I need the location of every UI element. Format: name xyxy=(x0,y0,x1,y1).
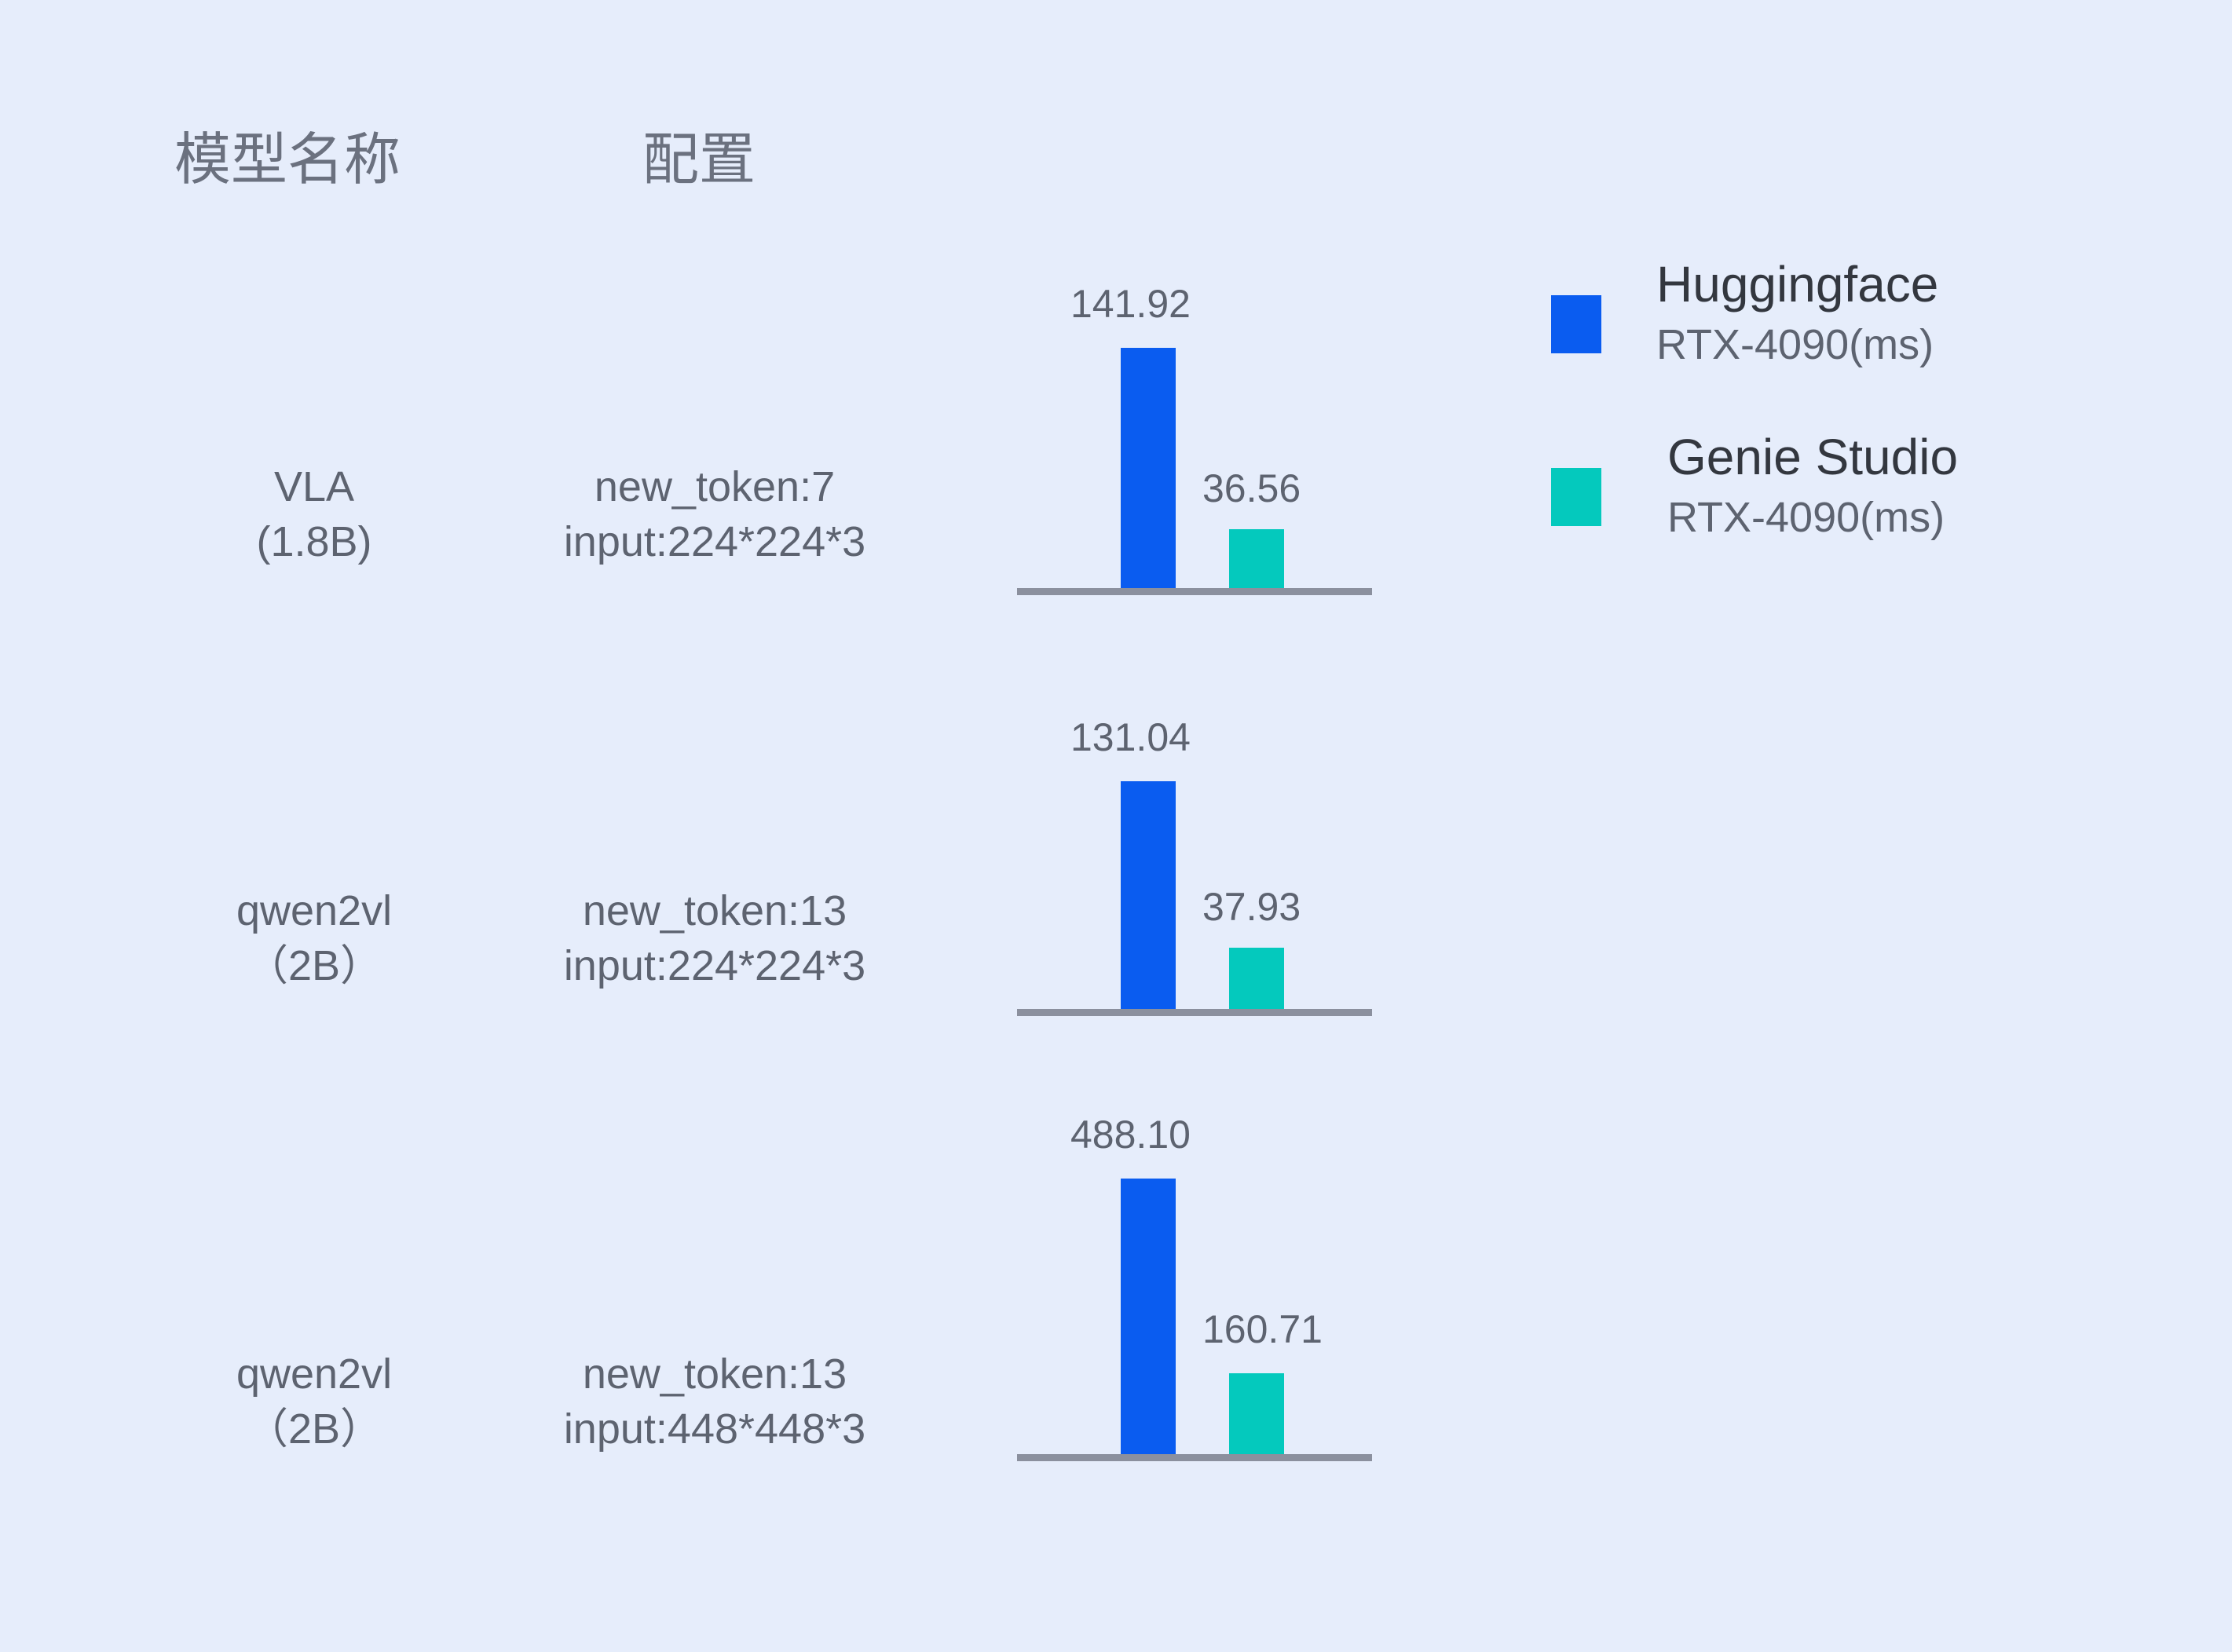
column-header-config: 配置 xyxy=(642,132,756,188)
bar-genie-studio[interactable] xyxy=(1229,529,1284,588)
chart-row: qwen2vl （2B） new_token:13 input:448*448*… xyxy=(0,1178,2232,1617)
legend-item-subtitle: RTX-4090(ms) xyxy=(1667,496,1945,539)
row-config-input: input:224*224*3 xyxy=(424,938,1005,993)
bar-value-huggingface: 488.10 xyxy=(1070,1115,1191,1154)
column-header-model-name: 模型名称 xyxy=(174,132,401,188)
legend-item-huggingface[interactable]: Huggingface RTX-4090(ms) xyxy=(1551,259,2101,432)
legend-item-genie-studio[interactable]: Genie Studio RTX-4090(ms) xyxy=(1551,432,2101,605)
bar-huggingface[interactable] xyxy=(1121,1179,1176,1460)
bar-huggingface[interactable] xyxy=(1121,348,1176,588)
bar-value-genie: 36.56 xyxy=(1202,469,1301,508)
chart-legend: Huggingface RTX-4090(ms) Genie Studio RT… xyxy=(1551,259,2101,605)
plot-baseline xyxy=(1017,588,1372,595)
row-bar-plot: 131.04 37.93 xyxy=(1017,762,1372,1029)
row-config-input: input:224*224*3 xyxy=(424,514,1005,569)
plot-baseline xyxy=(1017,1009,1372,1016)
bar-value-genie: 160.71 xyxy=(1202,1310,1323,1349)
row-bar-plot: 488.10 160.71 xyxy=(1017,1178,1372,1492)
bar-value-huggingface: 141.92 xyxy=(1070,284,1191,323)
legend-square-icon xyxy=(1551,468,1601,526)
bar-value-genie: 37.93 xyxy=(1202,887,1301,927)
infographic-root: 模型名称 配置 VLA (1.8B) new_token:7 input:224… xyxy=(0,0,2232,1652)
legend-square-icon xyxy=(1551,295,1601,353)
row-config-cell: new_token:13 input:448*448*3 xyxy=(424,1347,1005,1456)
bar-genie-studio[interactable] xyxy=(1229,1373,1284,1454)
legend-item-subtitle: RTX-4090(ms) xyxy=(1656,323,1934,366)
row-config-tokens: new_token:13 xyxy=(424,883,1005,938)
row-config-cell: new_token:7 input:224*224*3 xyxy=(424,459,1005,569)
legend-item-title: Genie Studio xyxy=(1667,432,1958,482)
legend-item-title: Huggingface xyxy=(1656,259,1938,309)
plot-baseline xyxy=(1017,1454,1372,1461)
bar-genie-studio[interactable] xyxy=(1229,948,1284,1009)
row-config-input: input:448*448*3 xyxy=(424,1402,1005,1456)
bar-value-huggingface: 131.04 xyxy=(1070,718,1191,757)
chart-row: qwen2vl （2B） new_token:13 input:224*224*… xyxy=(0,762,2232,1154)
row-config-tokens: new_token:13 xyxy=(424,1347,1005,1402)
bar-huggingface[interactable] xyxy=(1121,781,1176,1009)
row-bar-plot: 141.92 36.56 xyxy=(1017,338,1372,605)
row-config-tokens: new_token:7 xyxy=(424,459,1005,514)
row-config-cell: new_token:13 input:224*224*3 xyxy=(424,883,1005,993)
